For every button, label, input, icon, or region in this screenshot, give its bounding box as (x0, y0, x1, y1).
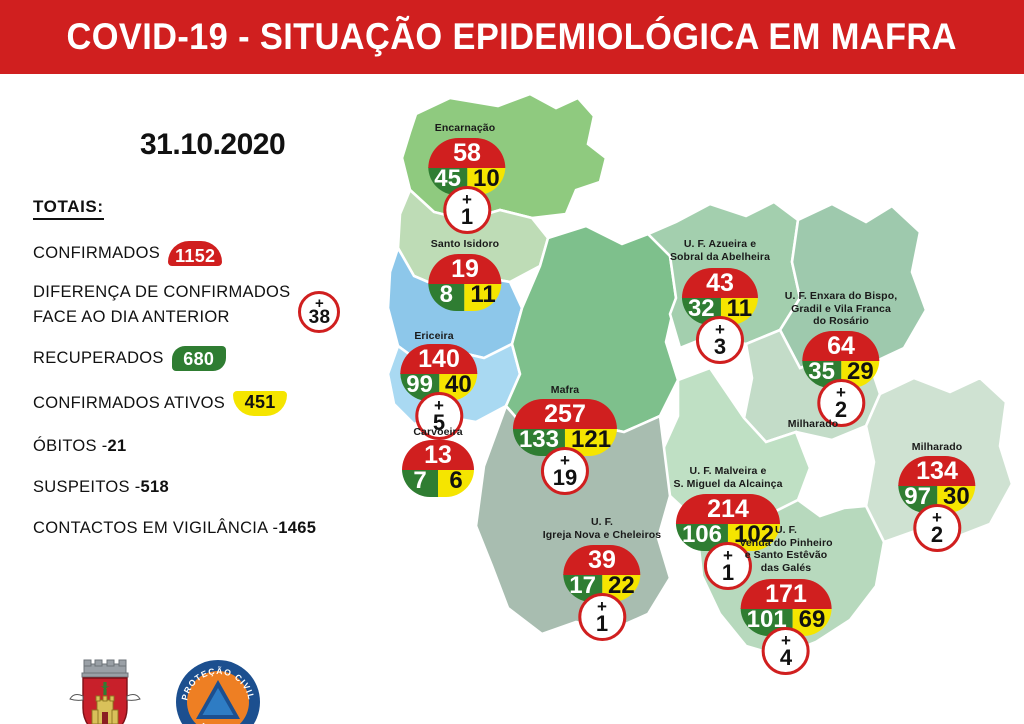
stat-vigilancia: CONTACTOS EM VIGILÂNCIA - 1465 (33, 519, 316, 538)
infographic-page: COVID-19 - SITUAÇÃO EPIDEMIOLÓGICA EM MA… (0, 0, 1024, 724)
stat-confirmados: CONFIRMADOS 1152 (33, 241, 222, 266)
coat-of-arms-icon: MUNICÍPIO DE MAFRA (62, 656, 148, 724)
marker-encarnacao: 58 45 10 + 1 (428, 138, 505, 234)
marker-santo-isidoro-active: 11 (464, 283, 501, 311)
map-label-venda-do-pinheiro: U. F. Venda do Pinheiro e Santo Estêvão … (739, 524, 832, 574)
marker-encarnacao-diff: + 1 (443, 186, 491, 234)
marker-mafra-confirmed: 257 (513, 399, 617, 429)
marker-santo-isidoro-confirmed: 19 (428, 254, 501, 284)
marker-santo-isidoro: 19 8 11 (428, 254, 501, 311)
marker-carvoeira: 13 7 6 (402, 440, 474, 497)
map-label-azueira-sobral: U. F. Azueira e Sobral da Abelheira (670, 238, 770, 263)
mafra-municipality-map: Encarnação 58 45 10 + 1 Santo Isidoro 19… (380, 86, 1024, 706)
stat-diferenca-badge: + 38 (298, 291, 340, 333)
marker-encarnacao-confirmed: 58 (428, 138, 505, 168)
totals-heading: TOTAIS: (33, 197, 104, 220)
map-label-santo-isidoro: Santo Isidoro (431, 238, 499, 251)
map-label-enxara-do-bispo: U. F. Enxara do Bispo, Gradil e Vila Fra… (785, 290, 897, 328)
marker-venda-do-pinheiro-diff: + 4 (762, 627, 810, 675)
report-date: 31.10.2020 (140, 128, 285, 162)
stat-vigilancia-label: CONTACTOS EM VIGILÂNCIA - (33, 519, 278, 538)
marker-enxara-do-bispo: 64 35 29 + 2 (802, 331, 879, 427)
stat-suspeitos: SUSPEITOS - 518 (33, 478, 169, 497)
map-label-igreja-nova: U. F. Igreja Nova e Cheleiros (543, 516, 661, 541)
stat-suspeitos-label: SUSPEITOS - (33, 478, 141, 497)
marker-milharado-confirmed: 134 (898, 456, 975, 486)
marker-azueira-sobral-confirmed: 43 (682, 268, 758, 298)
marker-santo-isidoro-recovered: 8 (428, 283, 464, 311)
stat-recuperados-badge: 680 (172, 346, 226, 371)
map-label-carvoeira: Carvoeira (413, 426, 462, 439)
stat-obitos: ÓBITOS - 21 (33, 437, 126, 456)
stat-recuperados-label: RECUPERADOS (33, 349, 164, 368)
map-label-malveira: U. F. Malveira e S. Miguel da Alcainça (673, 465, 782, 490)
municipio-de-mafra-coat-of-arms: MUNICÍPIO DE MAFRA (62, 656, 148, 724)
marker-enxara-do-bispo-confirmed: 64 (802, 331, 879, 361)
marker-malveira-confirmed: 214 (676, 494, 780, 524)
marker-azueira-sobral-diff: + 3 (696, 316, 744, 364)
map-label-ericeira: Ericeira (414, 330, 453, 343)
marker-ericeira-confirmed: 140 (400, 344, 477, 374)
map-label-encarnacao: Encarnação (435, 122, 496, 135)
page-title: COVID-19 - SITUAÇÃO EPIDEMIOLÓGICA EM MA… (67, 16, 957, 58)
stat-confirmados-badge: 1152 (168, 241, 222, 266)
marker-mafra-diff: + 19 (541, 447, 589, 495)
protecao-civil-mafra-logo: PROTEÇÃO CIVIL MAFRA (174, 658, 262, 724)
marker-igreja-nova-diff: + 1 (578, 593, 626, 641)
map-label-milharado: Milharado (912, 441, 963, 454)
marker-carvoeira-confirmed: 13 (402, 440, 474, 470)
marker-milharado: 134 97 30 + 2 (898, 456, 975, 552)
stat-ativos-badge: 451 (233, 391, 287, 416)
stat-diferenca-value: 38 (309, 309, 331, 326)
marker-carvoeira-recovered: 7 (402, 469, 438, 497)
stat-obitos-value: 21 (108, 437, 127, 456)
map-label-milharado-region: Milharado (788, 418, 839, 431)
header-banner: COVID-19 - SITUAÇÃO EPIDEMIOLÓGICA EM MA… (0, 0, 1024, 74)
marker-milharado-diff: + 2 (913, 504, 961, 552)
map-label-mafra: Mafra (551, 384, 580, 397)
protecao-civil-icon: PROTEÇÃO CIVIL MAFRA (174, 658, 262, 724)
logos-row: MUNICÍPIO DE MAFRA PROTEÇÃO CIVIL (62, 656, 262, 724)
marker-venda-do-pinheiro: 171 101 69 + 4 (741, 579, 832, 675)
marker-igreja-nova-confirmed: 39 (563, 545, 640, 575)
stat-ativos: CONFIRMADOS ATIVOS 451 (33, 391, 287, 416)
stat-recuperados: RECUPERADOS 680 (33, 346, 226, 371)
stat-diferenca-label-line2: FACE AO DIA ANTERIOR (33, 305, 290, 330)
marker-igreja-nova: 39 17 22 + 1 (563, 545, 640, 641)
marker-azueira-sobral: 43 32 11 + 3 (682, 268, 758, 364)
stat-suspeitos-value: 518 (141, 478, 169, 497)
marker-mafra: 257 133 121 + 19 (513, 399, 617, 495)
totals-panel: 31.10.2020 TOTAIS: CONFIRMADOS 1152 DIFE… (0, 74, 390, 724)
stat-ativos-label: CONFIRMADOS ATIVOS (33, 394, 225, 413)
stat-vigilancia-value: 1465 (278, 519, 316, 538)
marker-carvoeira-active: 6 (438, 469, 474, 497)
marker-venda-do-pinheiro-confirmed: 171 (741, 579, 832, 609)
stat-confirmados-label: CONFIRMADOS (33, 244, 160, 263)
stat-obitos-label: ÓBITOS - (33, 437, 108, 456)
stat-diferenca-label-line1: DIFERENÇA DE CONFIRMADOS (33, 280, 290, 305)
stat-diferenca: DIFERENÇA DE CONFIRMADOS FACE AO DIA ANT… (33, 277, 340, 333)
